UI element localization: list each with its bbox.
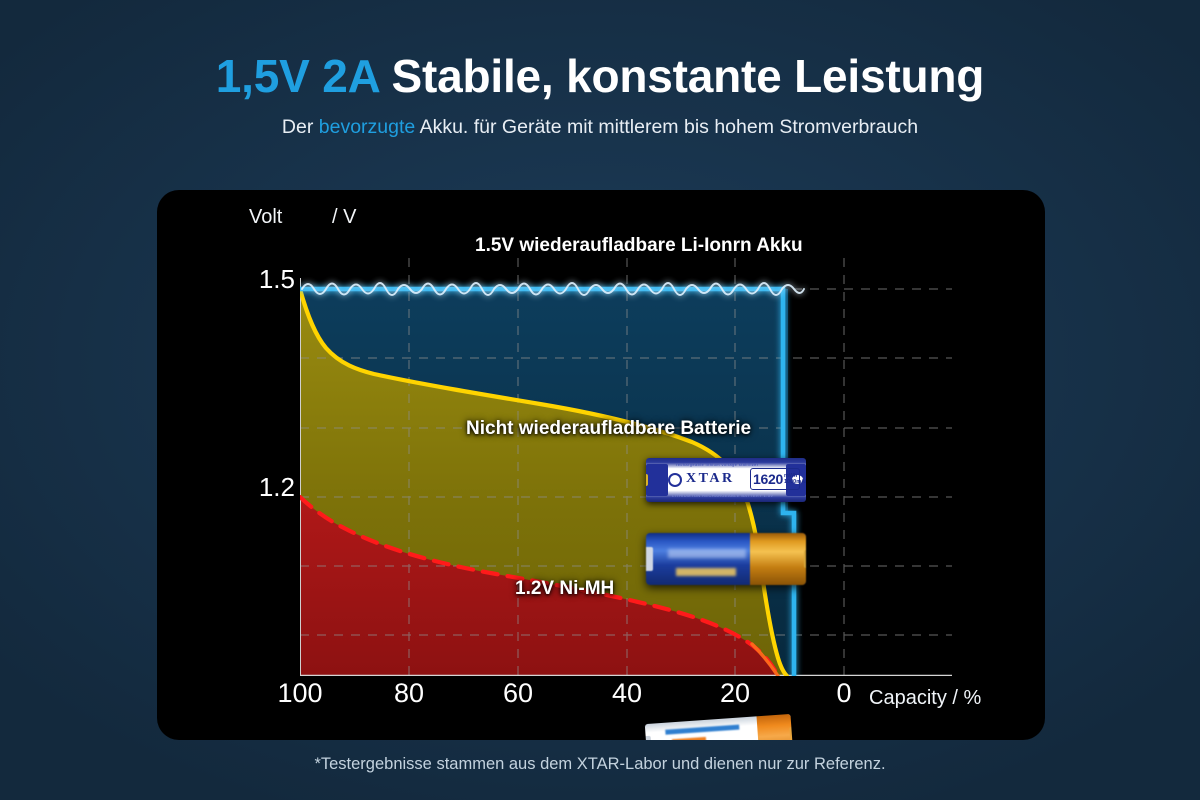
- nimh-stripe-2: [672, 737, 706, 740]
- y-axis-unit: / V: [332, 206, 356, 229]
- x-tick-60: 60: [503, 678, 533, 709]
- title-rest: Stabile, konstante Leistung: [392, 50, 985, 102]
- header: 1,5V 2A Stabile, konstante Leistung Der …: [0, 52, 1200, 139]
- battery-terminal-nub: [646, 474, 648, 486]
- subtitle-highlight: bevorzugte: [319, 116, 415, 138]
- plot-area: [300, 258, 952, 676]
- y-tick-1-5: 1.5: [235, 264, 295, 295]
- battery-image-alkaline: [646, 533, 806, 585]
- x-tick-100: 100: [277, 678, 322, 709]
- y-axis-title: Volt: [249, 206, 282, 229]
- x-tick-80: 80: [394, 678, 424, 709]
- chart-svg: [300, 258, 952, 676]
- nimh-terminal-nub: [789, 727, 793, 740]
- footnote: *Testergebnisse stammen aus dem XTAR-Lab…: [0, 755, 1200, 774]
- page-title: 1,5V 2A Stabile, konstante Leistung: [0, 52, 1200, 100]
- battery-positive-dot: [670, 475, 680, 485]
- page-subtitle: Der bevorzugte Akku. für Geräte mit mitt…: [0, 116, 1200, 139]
- nimh-cap: [645, 736, 652, 740]
- annotation-alkaline: Nicht wiederaufladbare Batterie: [466, 418, 751, 440]
- battery-brand-label: XTAR: [686, 471, 735, 487]
- battery-top-microtext: rechargeable lithium voltage stabilizer: [676, 462, 759, 467]
- alkaline-terminal-nub: [804, 550, 806, 568]
- x-axis-title: Capacity / %: [869, 687, 981, 710]
- alkaline-cap: [646, 547, 653, 571]
- x-tick-0: 0: [836, 678, 851, 709]
- battery-capacity-unit-top: mWh: [784, 473, 797, 479]
- alkaline-orange-band: [750, 533, 806, 585]
- battery-bottom-microtext: LITHIUM ION RECHARGEABLE BATTERY 1.5V: [672, 493, 774, 498]
- y-tick-1-2: 1.2: [235, 472, 295, 503]
- alkaline-stripe-upper: [668, 549, 746, 558]
- annotation-nimh: 1.2V Ni-MH: [515, 578, 614, 600]
- nimh-stripe-1: [665, 725, 739, 735]
- chart-panel: Volt / V 1.5 1.2: [157, 190, 1045, 740]
- subtitle-pre: Der: [282, 116, 319, 138]
- annotation-lion: 1.5V wiederaufladbare Li-Ionrn Akku: [475, 235, 803, 257]
- title-highlight: 1,5V 2A: [216, 50, 379, 102]
- battery-cap-left: [646, 464, 668, 496]
- x-tick-20: 20: [720, 678, 750, 709]
- alkaline-stripe-lower: [676, 568, 736, 576]
- subtitle-post: Akku. für Geräte mit mittlerem bis hohem…: [415, 116, 918, 138]
- battery-capacity-badge: 1620 mWh 1000mAh: [750, 468, 800, 490]
- battery-capacity-number: 1620: [753, 471, 783, 487]
- x-tick-40: 40: [612, 678, 642, 709]
- battery-capacity-units: mWh 1000mAh: [784, 473, 806, 486]
- battery-image-lithium: rechargeable lithium voltage stabilizer …: [646, 458, 806, 502]
- battery-capacity-unit-bottom: 1000mAh: [784, 479, 806, 485]
